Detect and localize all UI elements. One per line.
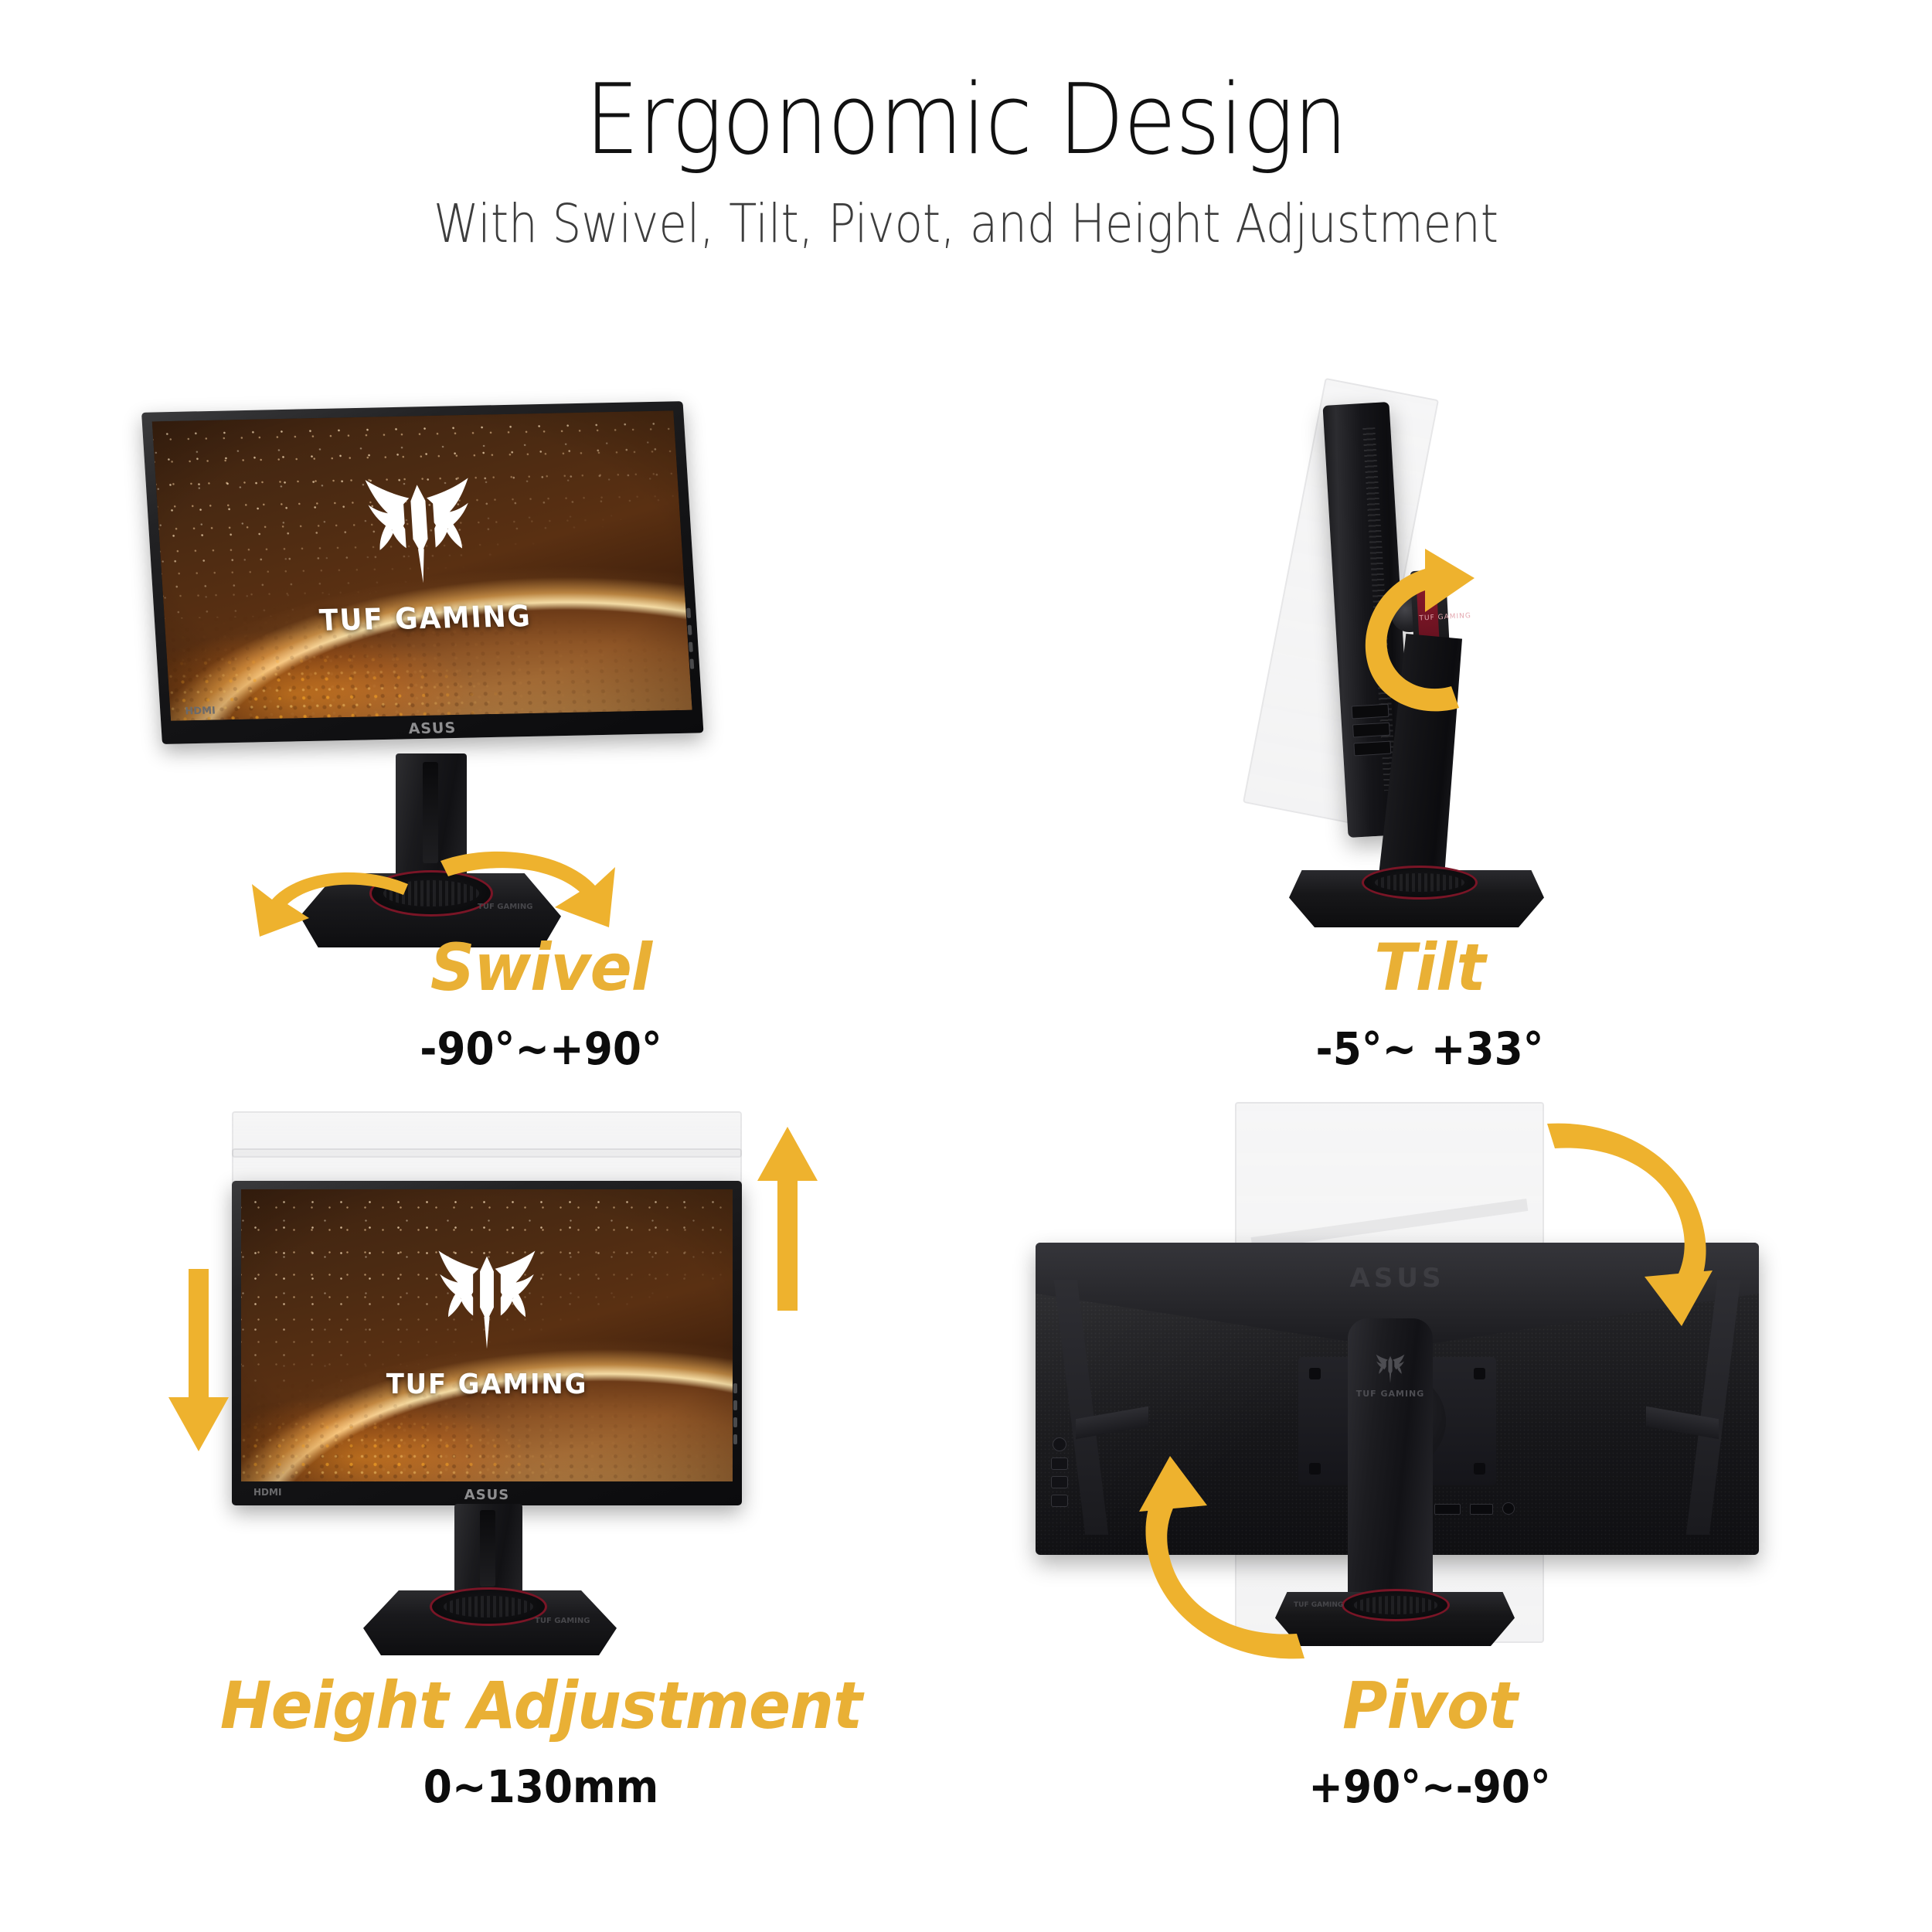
stand-neck: TUF GAMING <box>1348 1318 1433 1604</box>
pivot-illustration: ASUS <box>1028 1097 1832 1669</box>
osd-button-cluster <box>1051 1437 1068 1507</box>
page-title: Ergonomic Design <box>116 0 1816 168</box>
pivot-arrow-bottom-left-icon <box>1130 1465 1323 1671</box>
monitor-screen: TUF GAMING <box>152 410 692 720</box>
port-hdmi-2 <box>1434 1504 1461 1515</box>
pivot-value: +90°~-90° <box>1060 1738 1800 1809</box>
height-arrow-up-icon <box>756 1127 819 1311</box>
vesa-screw-tr <box>1474 1368 1485 1379</box>
hdmi-badge: HDMI <box>253 1487 281 1498</box>
tuf-gaming-wordmark: TUF GAMING <box>386 1369 588 1400</box>
tuf-gaming-wings-icon <box>313 470 526 591</box>
osd-control-indicators <box>733 1383 737 1444</box>
vesa-screw-br <box>1474 1463 1485 1475</box>
swivel-value: -90°~+90° <box>128 1000 953 1071</box>
tilt-arrow-icon <box>1351 549 1521 719</box>
monitor-screen: TUF GAMING <box>241 1189 733 1481</box>
height-title: Height Adjustment <box>115 1673 967 1738</box>
panel-tilt: TUF GAMING Tilt -5°~ +33° <box>1028 402 1832 1082</box>
base-tuf-mark: TUF GAMING <box>535 1617 590 1625</box>
panel-swivel: TUF GAMING ASUS HDMI TUF GAMING <box>93 402 989 1082</box>
infographic-page: Ergonomic Design With Swivel, Tilt, Pivo… <box>0 0 1932 1932</box>
neck-tuf-branding: TUF GAMING <box>1348 1352 1433 1399</box>
tilt-caption: Tilt -5°~ +33° <box>1028 935 1832 1071</box>
page-subtitle: With Swivel, Tilt, Pivot, and Height Adj… <box>135 168 1797 251</box>
tilt-value: -5°~ +33° <box>1060 1000 1800 1071</box>
swivel-caption: Swivel -90°~+90° <box>93 935 989 1071</box>
height-value: 0~130mm <box>128 1738 953 1809</box>
asus-brand-mark: ASUS <box>408 719 457 737</box>
hdmi-badge: HDMI <box>185 706 216 718</box>
monitor-front-angled: TUF GAMING ASUS HDMI <box>141 401 706 775</box>
height-arrow-down-icon <box>167 1269 230 1451</box>
asus-brand-mark: ASUS <box>464 1487 509 1503</box>
pivot-title: Pivot <box>1048 1673 1811 1738</box>
osd-button-2[interactable] <box>1051 1476 1068 1488</box>
swivel-illustration: TUF GAMING ASUS HDMI TUF GAMING <box>93 402 989 935</box>
swivel-title: Swivel <box>115 935 967 1000</box>
osd-joystick-button[interactable] <box>1053 1437 1066 1451</box>
height-illustration: TUF GAMING ASUS HDMI TUF GAMING <box>93 1097 989 1669</box>
panel-pivot: ASUS <box>1028 1097 1832 1832</box>
base-swivel-ring <box>1342 1589 1450 1621</box>
port-displayport <box>1470 1504 1493 1515</box>
header: Ergonomic Design With Swivel, Tilt, Pivo… <box>0 0 1932 251</box>
tuf-gaming-wings-icon <box>390 1243 583 1355</box>
vesa-screw-tl <box>1309 1368 1321 1379</box>
tuf-gaming-wordmark: TUF GAMING <box>318 599 532 638</box>
base-swivel-ring <box>1362 866 1478 900</box>
tilt-illustration: TUF GAMING <box>1028 402 1832 935</box>
panel-height-adjustment: TUF GAMING ASUS HDMI TUF GAMING <box>93 1097 989 1832</box>
port-audio <box>1502 1502 1515 1515</box>
asus-brand-mark: ASUS <box>1350 1263 1445 1294</box>
osd-button-3[interactable] <box>1051 1495 1068 1507</box>
pivot-arrow-top-right-icon <box>1529 1111 1722 1328</box>
tilt-title: Tilt <box>1048 935 1811 1000</box>
neck-tuf-text: TUF GAMING <box>1348 1389 1433 1399</box>
height-caption: Height Adjustment 0~130mm <box>93 1673 989 1809</box>
osd-button-1[interactable] <box>1051 1458 1068 1470</box>
neck-tuf-wings-icon <box>1362 1352 1419 1385</box>
base-swivel-ring <box>430 1587 547 1626</box>
monitor-front: TUF GAMING ASUS HDMI <box>232 1181 742 1505</box>
pivot-caption: Pivot +90°~-90° <box>1028 1673 1832 1809</box>
